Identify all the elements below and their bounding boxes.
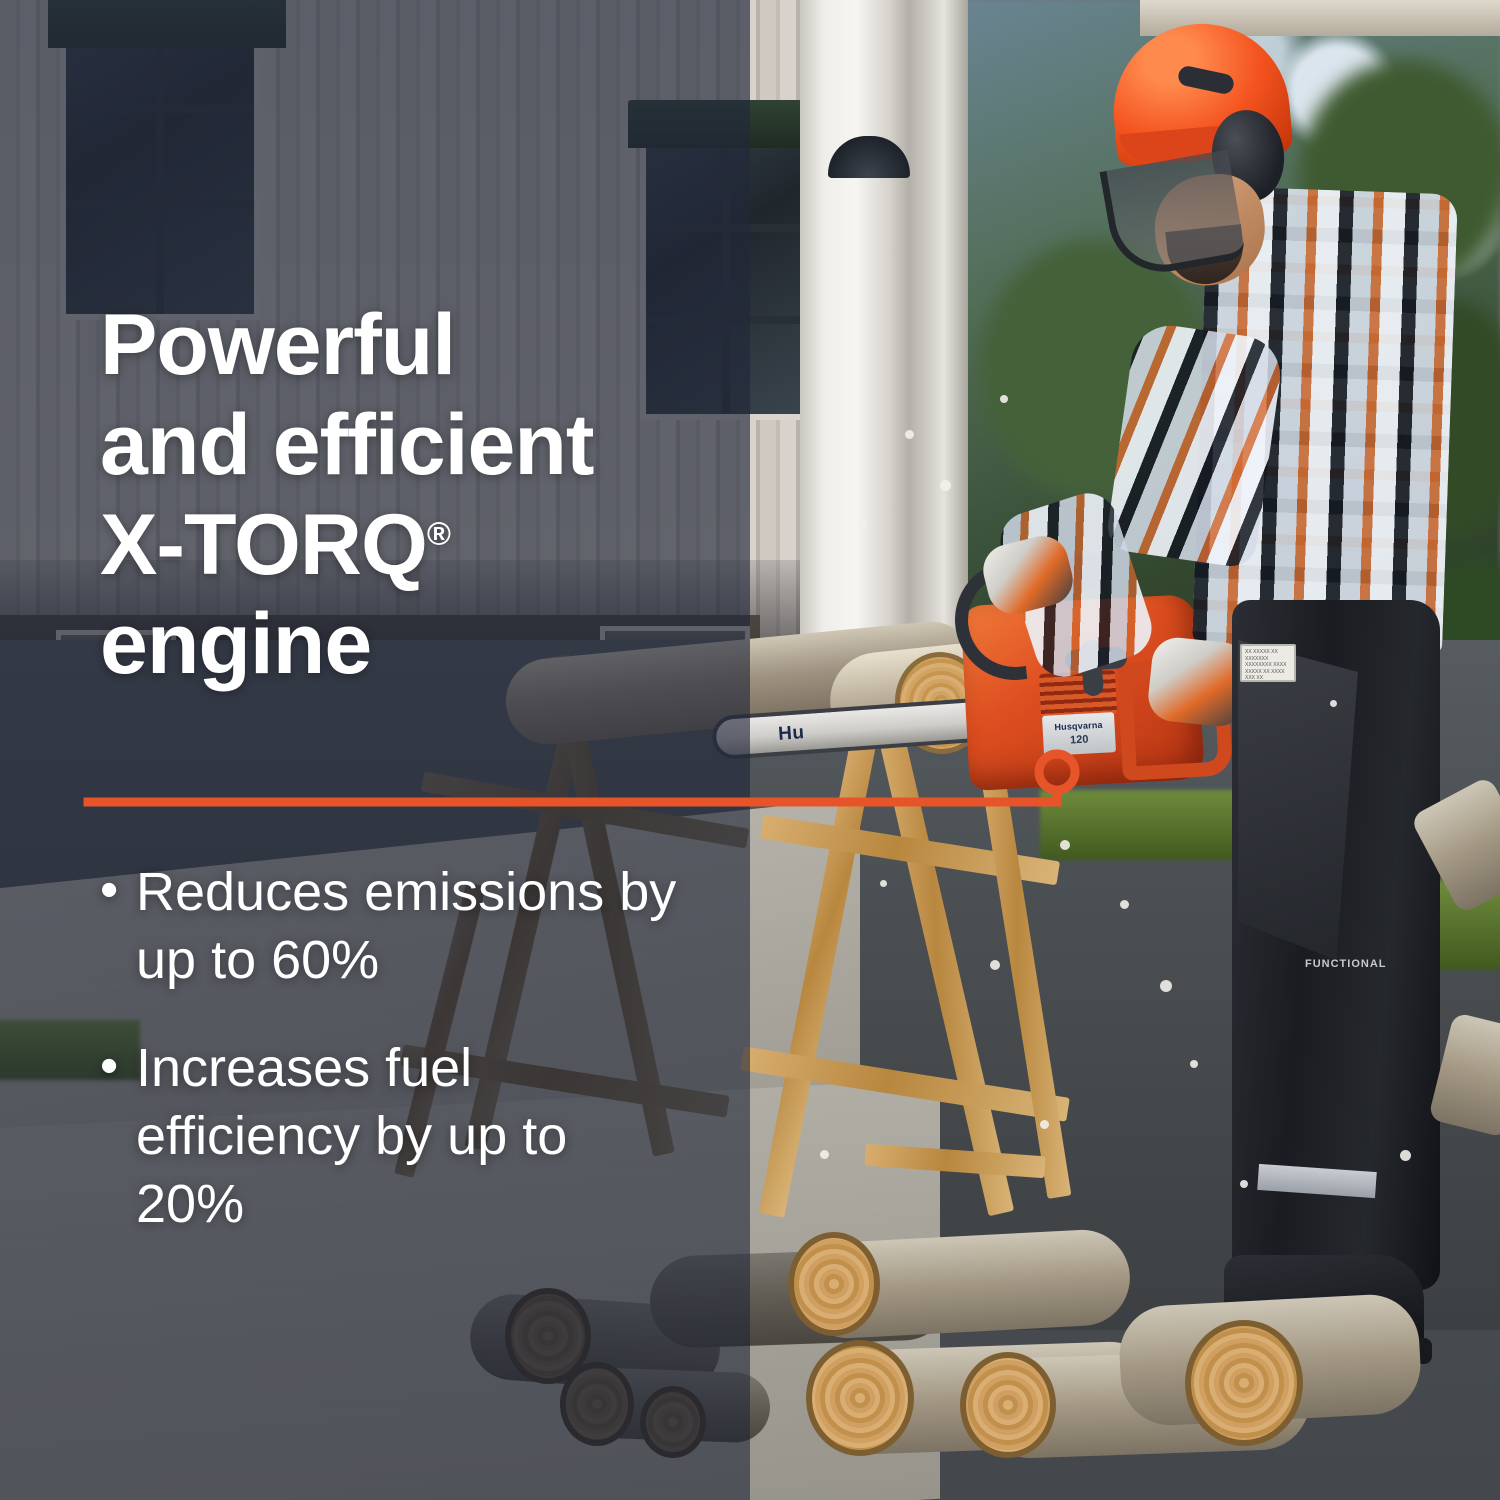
stacked-log-end [960,1352,1056,1458]
headline-xtorq-text: X-TORQ [100,497,427,593]
worker-right-arm [1105,321,1286,570]
sawdust-particle [1060,840,1070,850]
chainsaw-model-text: 120 [1070,735,1089,747]
list-item: • Increases fuel efficiency by up to 20% [100,1034,680,1238]
chainsaw-brand-plate: Husqvarna 120 [1042,712,1116,756]
bullet-text: Reduces emissions by up to 60% [136,858,680,994]
sawdust-particle [880,880,887,887]
registered-trademark-icon: ® [427,514,450,551]
bullet-dot-icon: • [100,1034,136,1238]
bullet-text: Increases fuel efficiency by up to 20% [136,1034,680,1238]
headline-line-4: engine [100,595,594,695]
sawdust-particle [1120,900,1129,909]
chainsaw-cooling-vents [1039,670,1117,718]
bullet-dot-icon: • [100,858,136,994]
sawdust-particle [820,1150,829,1159]
sawdust-particle [990,960,1000,970]
sawdust-particle [1040,1120,1049,1129]
sawdust-particle [1330,700,1337,707]
sawdust-particle [1400,1150,1411,1161]
stacked-log-end [1185,1320,1303,1446]
headline-line-3: X-TORQ® [100,496,594,596]
sawdust-particle [1160,980,1172,992]
sawdust-particle [1000,395,1008,403]
headline-line-1: Powerful [100,296,594,396]
headline-line-2: and efficient [100,396,594,496]
sawdust-particle [1190,1060,1198,1068]
sawdust-particle [905,430,914,439]
sawdust-particle [860,520,867,527]
stacked-log-end [806,1340,914,1456]
stacked-log-end [788,1232,880,1336]
garment-care-label: XX XXXXX XX XXXXXXX XXXXXXXX XXXX XXXXX … [1240,644,1296,682]
page-title: Powerful and efficient X-TORQ® engine [100,296,594,695]
sawdust-particle [1240,1180,1248,1188]
chainsaw-brand-text: Husqvarna [1054,721,1103,733]
list-item: • Reduces emissions by up to 60% [100,858,680,994]
feature-bullet-list: • Reduces emissions by up to 60% • Incre… [100,858,680,1278]
guide-bar-brand-label: Hu [778,722,806,746]
sawdust-particle [940,480,951,491]
trouser-brand-text: FUNCTIONAL [1305,958,1387,970]
feature-card: Hu Husqvarna 120 XX XXXXX XX XXXXXXX XXX… [0,0,1500,1500]
trouser-front-panel [1238,640,1358,960]
